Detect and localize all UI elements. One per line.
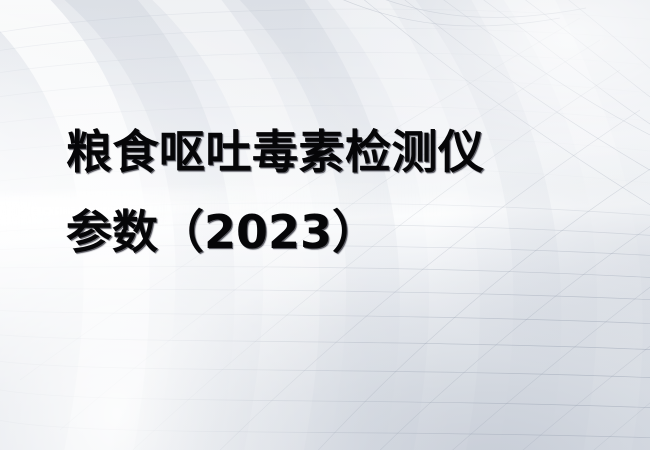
title-line-parameters-year: 参数（2023） — [66, 192, 606, 272]
page-title: 粮食呕吐毒素检测仪 参数（2023） — [66, 112, 606, 272]
title-line-product-name: 粮食呕吐毒素检测仪 — [66, 112, 606, 192]
title-banner: 粮食呕吐毒素检测仪 参数（2023） — [0, 0, 650, 450]
